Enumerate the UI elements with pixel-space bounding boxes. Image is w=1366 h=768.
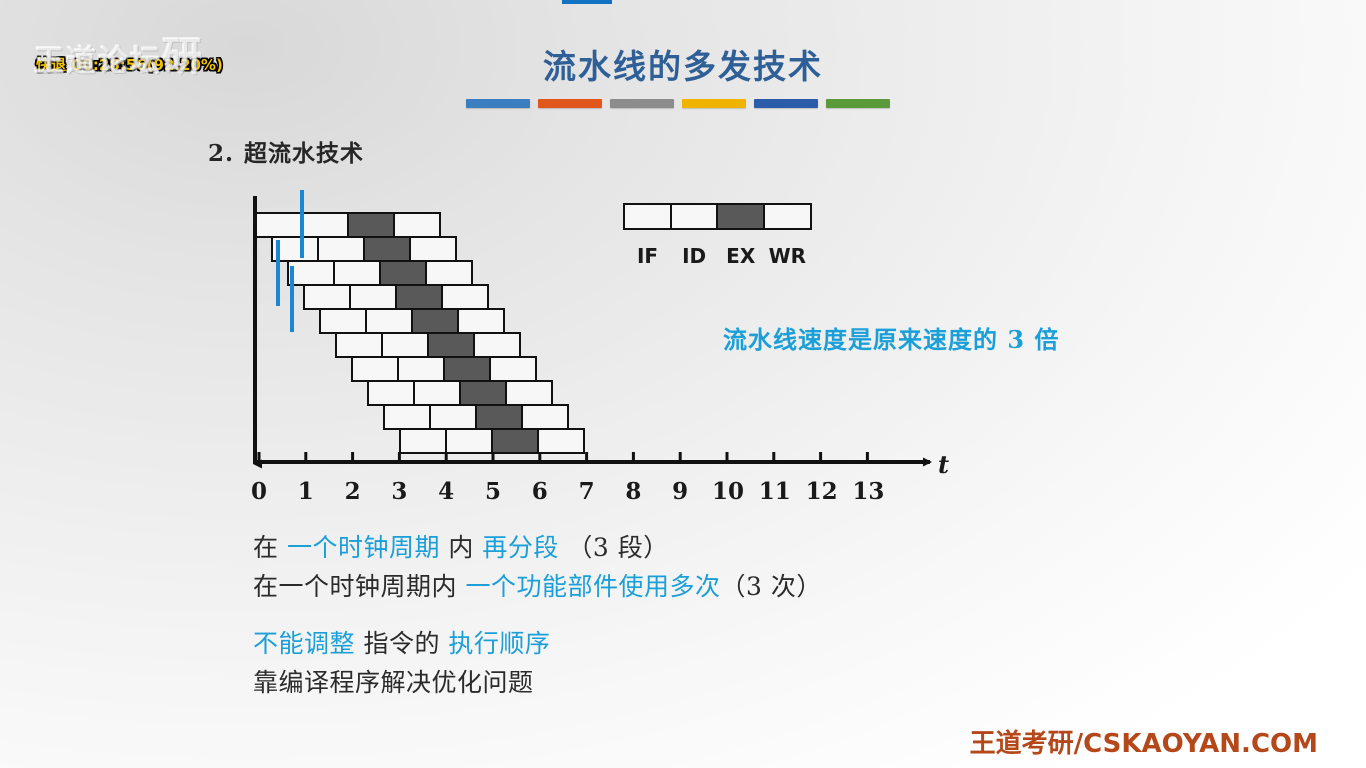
axis-tick-label: 4 [431, 478, 461, 505]
body-text-line-4: 靠编译程序解决优化问题 [253, 663, 1073, 702]
axis-tick-label: 8 [618, 478, 648, 505]
pipeline-row [287, 260, 473, 286]
pipeline-stage-cell [445, 428, 493, 454]
pipeline-stage-cell [459, 380, 507, 406]
body-text-plain: 靠编译程序解决优化问题 [253, 668, 534, 697]
pipeline-stage-cell [351, 356, 399, 382]
axis-tick-label: 10 [712, 478, 742, 505]
pipeline-stage-cell [425, 260, 473, 286]
body-text-highlight: 执行顺序 [448, 629, 550, 658]
pipeline-stage-cell [537, 428, 585, 454]
legend-labels: IFIDEXWR [623, 244, 812, 268]
body-text-plain: 内 [440, 533, 482, 562]
stage-legend: IFIDEXWR [623, 203, 812, 268]
stage-boundary-marker-1 [300, 190, 304, 258]
body-text-line-3: 不能调整 指令的 执行顺序 [253, 624, 1073, 663]
pipeline-stage-cell [301, 212, 349, 238]
pipeline-stage-cell [399, 428, 447, 454]
pipeline-diagram [0, 0, 1000, 520]
footer-brand: 王道考研/CSKAOYAN.COM [970, 723, 1318, 760]
pipeline-stage-cell [457, 308, 505, 334]
axis-tick-label: 3 [384, 478, 414, 505]
body-text-block: 在 一个时钟周期 内 再分段 （3 段）在一个时钟周期内 一个功能部件使用多次（… [253, 528, 1073, 702]
pipeline-row [383, 404, 569, 430]
legend-cell-wr [763, 203, 812, 230]
pipeline-stage-cell [347, 212, 395, 238]
pipeline-stage-cell [397, 356, 445, 382]
pipeline-row [319, 308, 505, 334]
body-text-line-1: 在 一个时钟周期 内 再分段 （3 段） [253, 528, 1073, 567]
axis-name-label: t [938, 450, 949, 479]
body-text-line-2: 在一个时钟周期内 一个功能部件使用多次（3 次） [253, 567, 1073, 606]
body-text-gap [253, 606, 1073, 624]
pipeline-stage-cell [303, 284, 351, 310]
pipeline-stage-cell [381, 332, 429, 358]
pipeline-stage-cell [317, 236, 365, 262]
pipeline-stage-cell [255, 212, 303, 238]
axis-tick-label: 9 [665, 478, 695, 505]
axis-tick-label: 2 [338, 478, 368, 505]
pipeline-stage-cell [443, 356, 491, 382]
pipeline-stage-cell [335, 332, 383, 358]
body-text-highlight: 一个功能部件使用多次 [465, 572, 720, 601]
pipeline-stage-cell [491, 428, 539, 454]
pipeline-stage-cell [411, 308, 459, 334]
pipeline-stage-cell [489, 356, 537, 382]
pipeline-stage-cell [521, 404, 569, 430]
legend-cell-ex [716, 203, 765, 230]
axis-tick-label: 12 [806, 478, 836, 505]
body-text-plain: （3 段） [559, 533, 669, 562]
pipeline-row [255, 212, 441, 238]
axis-tick-label: 13 [852, 478, 882, 505]
pipeline-stage-cell [287, 260, 335, 286]
pipeline-stage-cell [393, 212, 441, 238]
body-text-highlight: 不能调整 [253, 629, 355, 658]
pipeline-stage-cell [395, 284, 443, 310]
stage-boundary-marker-2 [276, 240, 280, 306]
legend-cell-if [623, 203, 672, 230]
body-text-plain: 在一个时钟周期内 [253, 572, 465, 601]
legend-label-if: IF [623, 244, 672, 268]
pipeline-row [351, 356, 537, 382]
axis-tick-label: 1 [291, 478, 321, 505]
pipeline-stage-cell [409, 236, 457, 262]
pipeline-row [335, 332, 521, 358]
axis-tick-label: 11 [759, 478, 789, 505]
axis-tick-label: 7 [572, 478, 602, 505]
speed-note: 流水线速度是原来速度的 3 倍 [723, 320, 1059, 355]
pipeline-stage-cell [473, 332, 521, 358]
legend-label-wr: WR [763, 244, 812, 268]
axis-tick-label: 6 [525, 478, 555, 505]
pipeline-stage-cell [367, 380, 415, 406]
legend-cell-id [670, 203, 719, 230]
pipeline-stage-cell [349, 284, 397, 310]
pipeline-stage-cell [429, 404, 477, 430]
pipeline-stage-cell [365, 308, 413, 334]
pipeline-stage-cell [379, 260, 427, 286]
pipeline-stage-cell [319, 308, 367, 334]
body-text-highlight: 一个时钟周期 [287, 533, 440, 562]
pipeline-row [367, 380, 553, 406]
axis-tick-label: 5 [478, 478, 508, 505]
body-text-plain: （3 次） [720, 572, 821, 601]
pipeline-row [303, 284, 489, 310]
body-text-plain: 指令的 [355, 629, 448, 658]
pipeline-row [399, 428, 585, 454]
pipeline-stage-cell [413, 380, 461, 406]
legend-label-id: ID [670, 244, 719, 268]
pipeline-stage-cell [363, 236, 411, 262]
pipeline-stage-cell [383, 404, 431, 430]
body-text-highlight: 再分段 [482, 533, 559, 562]
pipeline-row [271, 236, 457, 262]
legend-cells [623, 203, 812, 230]
pipeline-stage-cell [475, 404, 523, 430]
pipeline-stage-cell [333, 260, 381, 286]
pipeline-stage-cell [505, 380, 553, 406]
slide-canvas: 快退00:28:56(92.20%) 王道论坛 研 流水线的多发技术 2.超流水… [0, 0, 1366, 768]
pipeline-stage-cell [441, 284, 489, 310]
axis-tick-label: 0 [244, 478, 274, 505]
body-text-plain: 在 [253, 533, 287, 562]
legend-label-ex: EX [716, 244, 765, 268]
axis-tick-labels: 012345678910111213 [0, 478, 1000, 508]
pipeline-stage-cell [427, 332, 475, 358]
stage-boundary-marker-3 [290, 266, 294, 332]
